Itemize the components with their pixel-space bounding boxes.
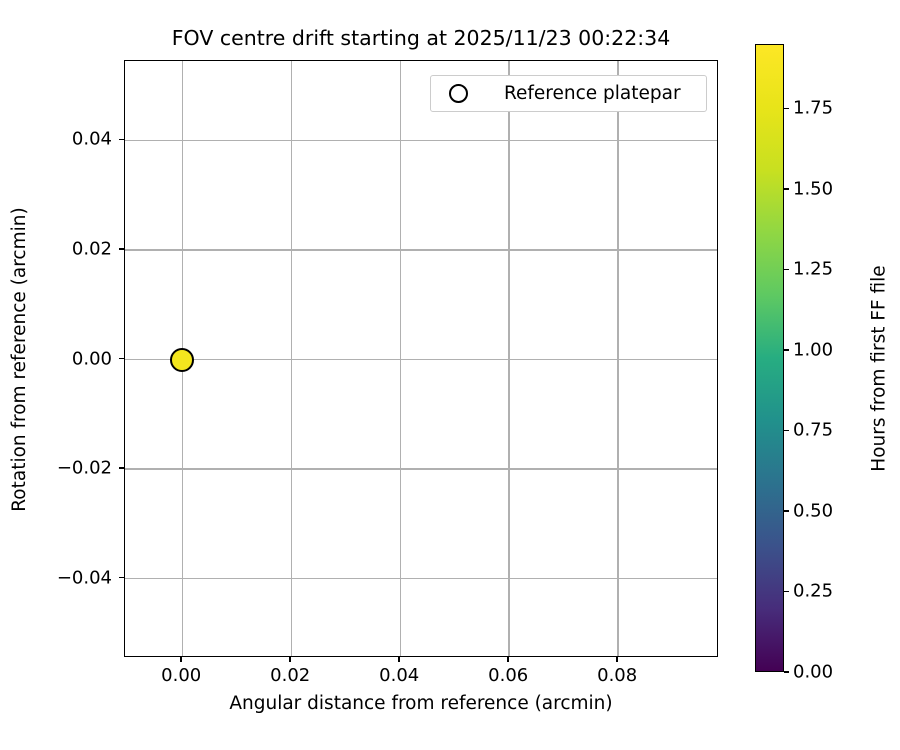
colorbar-tick-mark <box>784 671 789 673</box>
colorbar-tick-mark <box>784 108 789 110</box>
colorbar-gradient <box>756 45 783 671</box>
colorbar-tick-mark <box>784 430 789 432</box>
x-tick-mark <box>398 657 400 662</box>
plot-axes <box>124 60 718 657</box>
y-tick-mark <box>119 358 124 360</box>
x-tick-mark <box>507 657 509 662</box>
y-axis-label: Rotation from reference (arcmin) <box>9 61 30 658</box>
colorbar-tick-mark <box>784 188 789 190</box>
colorbar <box>755 44 784 672</box>
x-axis-label: Angular distance from reference (arcmin) <box>124 693 718 714</box>
colorbar-tick-label: 0.50 <box>793 500 833 521</box>
y-gridline <box>125 578 717 579</box>
y-tick-label: −0.04 <box>57 567 112 588</box>
x-tick-label: 0.04 <box>379 665 419 686</box>
x-tick-label: 0.02 <box>270 665 310 686</box>
colorbar-tick-mark <box>784 349 789 351</box>
colorbar-tick-label: 1.75 <box>793 98 833 119</box>
x-tick-mark <box>289 657 291 662</box>
colorbar-tick-mark <box>784 510 789 512</box>
colorbar-label: Hours from first FF file <box>869 55 890 683</box>
x-tick-label: 0.00 <box>161 665 201 686</box>
y-gridline <box>125 359 717 360</box>
legend: Reference platepar <box>430 75 707 112</box>
colorbar-tick-label: 0.75 <box>793 420 833 441</box>
x-tick-mark <box>180 657 182 662</box>
colorbar-tick-mark <box>784 269 789 271</box>
colorbar-tick-label: 1.50 <box>793 178 833 199</box>
y-tick-mark <box>119 467 124 469</box>
colorbar-tick-label: 0.00 <box>793 662 833 683</box>
y-tick-label: 0.04 <box>72 129 112 150</box>
x-tick-label: 0.08 <box>597 665 637 686</box>
y-tick-mark <box>119 139 124 141</box>
legend-entry-label: Reference platepar <box>504 83 681 104</box>
page-title: FOV centre drift starting at 2025/11/23 … <box>124 26 718 50</box>
matplotlib-figure: FOV centre drift starting at 2025/11/23 … <box>0 0 900 750</box>
y-tick-label: −0.02 <box>57 458 112 479</box>
colorbar-tick-label: 0.25 <box>793 581 833 602</box>
y-gridline <box>125 140 717 141</box>
y-tick-label: 0.00 <box>72 348 112 369</box>
colorbar-tick-label: 1.00 <box>793 339 833 360</box>
colorbar-tick-label: 1.25 <box>793 259 833 280</box>
y-tick-mark <box>119 577 124 579</box>
y-tick-label: 0.02 <box>72 238 112 259</box>
x-tick-label: 0.06 <box>488 665 528 686</box>
y-gridline <box>125 468 717 469</box>
data-point[interactable] <box>170 348 194 372</box>
y-gridline <box>125 249 717 250</box>
legend-marker-icon <box>449 84 468 103</box>
x-tick-mark <box>616 657 618 662</box>
plot-area <box>125 61 717 656</box>
y-tick-mark <box>119 248 124 250</box>
colorbar-tick-mark <box>784 591 789 593</box>
